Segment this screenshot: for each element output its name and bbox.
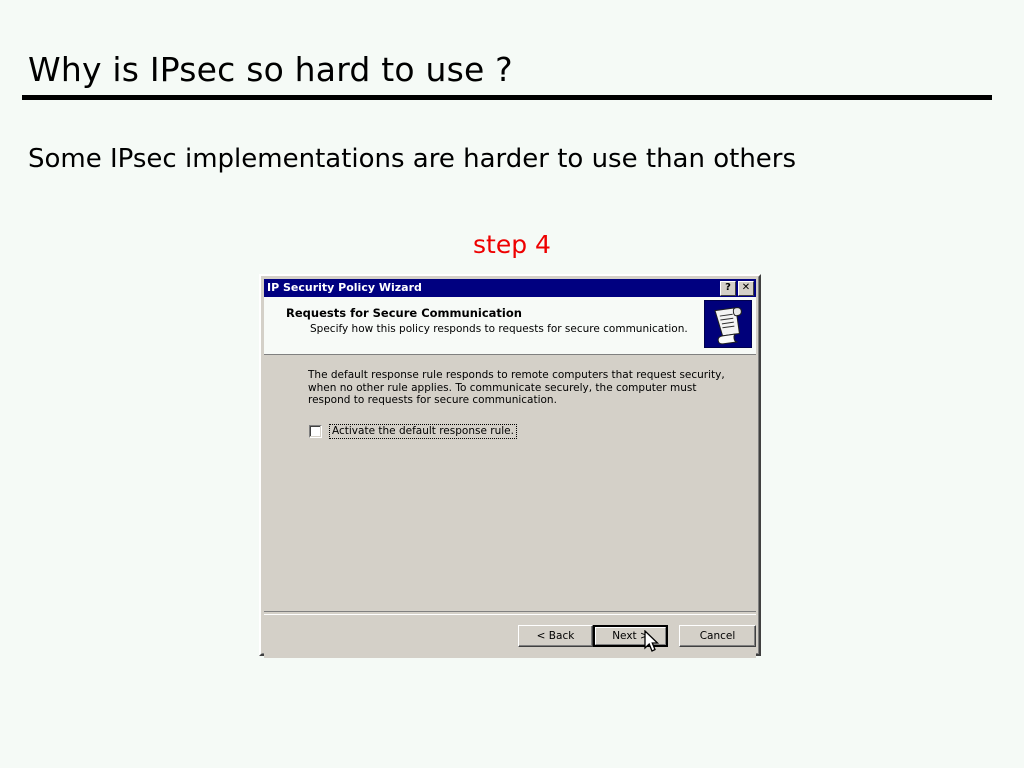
wizard-body: The default response rule responds to re… (264, 355, 756, 611)
activate-default-response-rule-row[interactable]: Activate the default response rule. (309, 424, 517, 439)
activate-default-response-rule-checkbox[interactable] (309, 425, 322, 438)
dialog-inner-frame: IP Security Policy Wizard ? ✕ Requests f… (261, 276, 759, 654)
next-button-label: Next > (595, 627, 666, 645)
ip-security-policy-wizard-dialog: IP Security Policy Wizard ? ✕ Requests f… (259, 274, 761, 656)
wizard-header-description: Specify how this policy responds to requ… (310, 323, 688, 335)
wizard-footer: < Back Next > Cancel (264, 615, 756, 658)
wizard-header-title: Requests for Secure Communication (286, 306, 522, 320)
back-button[interactable]: < Back (518, 625, 593, 647)
title-divider (22, 95, 992, 100)
activate-default-response-rule-label[interactable]: Activate the default response rule. (329, 424, 517, 439)
dialog-title-text: IP Security Policy Wizard (267, 279, 718, 297)
page-title: Why is IPsec so hard to use ? (28, 50, 513, 89)
dialog-titlebar[interactable]: IP Security Policy Wizard ? ✕ (264, 279, 756, 297)
wizard-header: Requests for Secure Communication Specif… (264, 297, 756, 355)
close-icon[interactable]: ✕ (738, 281, 754, 296)
help-icon[interactable]: ? (720, 281, 736, 296)
body-paragraph: The default response rule responds to re… (308, 369, 728, 407)
slide-subtitle: Some IPsec implementations are harder to… (28, 144, 796, 174)
cancel-button[interactable]: Cancel (679, 625, 756, 647)
next-button[interactable]: Next > (593, 625, 668, 647)
scroll-document-icon (704, 300, 752, 348)
step-label: step 4 (0, 230, 1024, 259)
